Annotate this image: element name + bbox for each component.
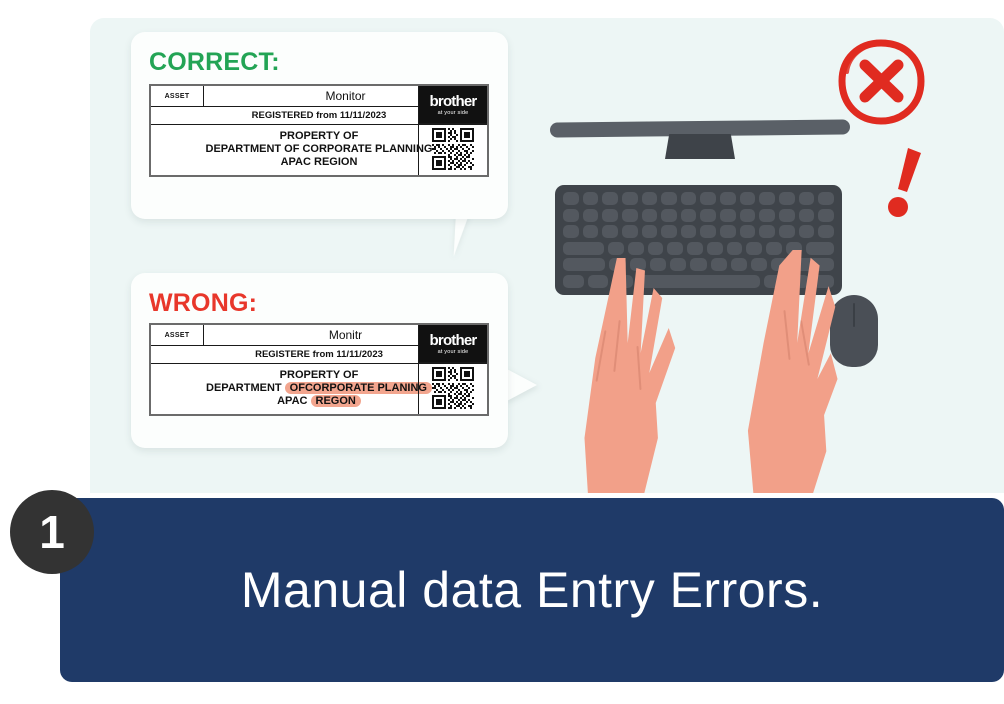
property-line-2-error-highlight: OFCORPORATE PLANING bbox=[285, 382, 432, 394]
registered-word: REGISTERE bbox=[255, 349, 310, 360]
asset-caption-cell: ASSET bbox=[151, 325, 204, 345]
property-line-3-error-highlight: REGON bbox=[311, 395, 361, 407]
property-line-3-prefix: APAC bbox=[277, 395, 307, 407]
brother-logo: brother at your side bbox=[419, 86, 487, 124]
brother-wordmark: brother bbox=[430, 333, 477, 348]
brother-logo: brother at your side bbox=[419, 325, 487, 363]
registered-date: from 11/11/2023 bbox=[316, 110, 386, 121]
speech-bubble-tail-wrong bbox=[505, 368, 537, 402]
asset-caption-cell: ASSET bbox=[151, 86, 204, 106]
illustration-slide: CORRECT: ASSET Monitor REGISTERED from 1… bbox=[0, 0, 1004, 704]
step-number-badge: 1 bbox=[10, 490, 94, 574]
qr-code-icon bbox=[419, 124, 487, 175]
registered-date: from 11/11/2023 bbox=[313, 349, 383, 360]
monitor-stand-icon bbox=[665, 134, 735, 159]
mouse-scroll-line bbox=[853, 303, 855, 327]
keyboard-row bbox=[563, 225, 834, 238]
correct-heading: CORRECT: bbox=[149, 48, 508, 77]
brother-wordmark: brother bbox=[430, 94, 477, 109]
caption-bar: Manual data Entry Errors. bbox=[60, 498, 1004, 682]
keyboard-row bbox=[563, 192, 834, 205]
qr-code-icon bbox=[419, 363, 487, 414]
exclamation-mark-icon bbox=[885, 146, 925, 218]
wrong-heading: WRONG: bbox=[149, 289, 508, 318]
computer-mouse-icon bbox=[830, 295, 878, 367]
asset-label-correct: ASSET Monitor REGISTERED from 11/11/2023… bbox=[149, 84, 489, 177]
property-line-2-prefix: DEPARTMENT bbox=[206, 382, 282, 394]
brother-tagline: at your side bbox=[438, 349, 469, 355]
asset-label-wrong: ASSET Monitr REGISTERE from 11/11/2023 P… bbox=[149, 323, 489, 416]
wrong-example-bubble: WRONG: ASSET Monitr REGISTERE from 11/11… bbox=[131, 273, 508, 448]
registered-word: REGISTERED bbox=[252, 110, 314, 121]
keyboard-row bbox=[563, 209, 834, 222]
caption-text: Manual data Entry Errors. bbox=[241, 561, 823, 619]
correct-example-bubble: CORRECT: ASSET Monitor REGISTERED from 1… bbox=[131, 32, 508, 219]
brother-tagline: at your side bbox=[438, 110, 469, 116]
error-circle-x-icon bbox=[835, 36, 927, 128]
